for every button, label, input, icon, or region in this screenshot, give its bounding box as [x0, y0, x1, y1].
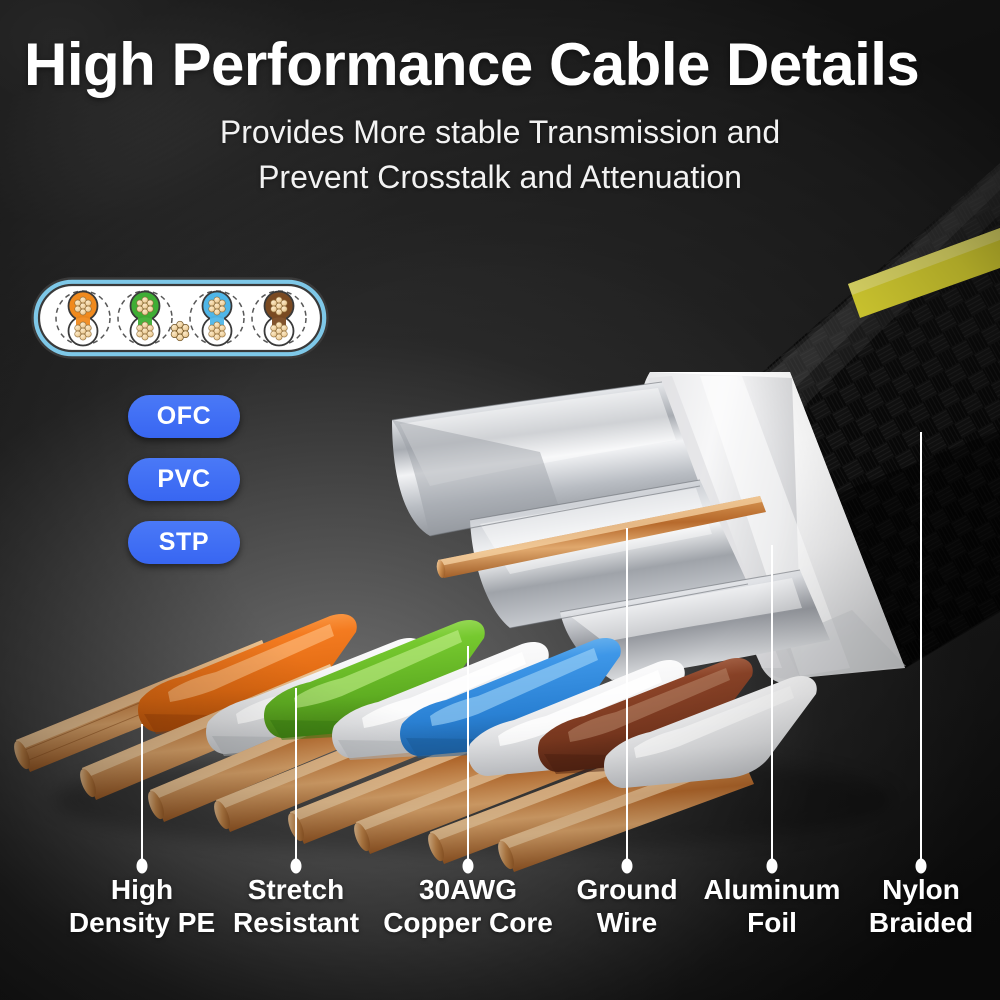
callout-nylon-braided: Nylon Braided — [869, 873, 973, 939]
callout-line-1: Nylon — [869, 873, 973, 906]
callout-high-density-pe: High Density PE — [69, 873, 215, 939]
callout-leader-lines — [0, 0, 1000, 1000]
leader-dot-3 — [464, 860, 473, 873]
callout-line-1: 30AWG — [383, 873, 553, 906]
leader-dot-4 — [623, 860, 632, 873]
infographic-canvas: High Performance Cable Details Provides … — [0, 0, 1000, 1000]
callout-30awg-copper-core: 30AWG Copper Core — [383, 873, 553, 939]
callout-line-2: Resistant — [233, 906, 359, 939]
callout-line-1: Stretch — [233, 873, 359, 906]
callout-line-1: Aluminum — [704, 873, 841, 906]
leader-dot-1 — [138, 860, 147, 873]
callout-line-2: Wire — [576, 906, 677, 939]
callout-line-2: Copper Core — [383, 906, 553, 939]
callout-ground-wire: Ground Wire — [576, 873, 677, 939]
leader-dot-2 — [292, 860, 301, 873]
callout-stretch-resistant: Stretch Resistant — [233, 873, 359, 939]
callout-label-group: High Density PE Stretch Resistant 30AWG … — [0, 873, 1000, 963]
callout-aluminum-foil: Aluminum Foil — [704, 873, 841, 939]
callout-line-1: Ground — [576, 873, 677, 906]
leader-dot-5 — [768, 860, 777, 873]
leader-dot-6 — [917, 860, 926, 873]
callout-line-2: Density PE — [69, 906, 215, 939]
callout-line-2: Foil — [704, 906, 841, 939]
callout-line-2: Braided — [869, 906, 973, 939]
callout-line-1: High — [69, 873, 215, 906]
